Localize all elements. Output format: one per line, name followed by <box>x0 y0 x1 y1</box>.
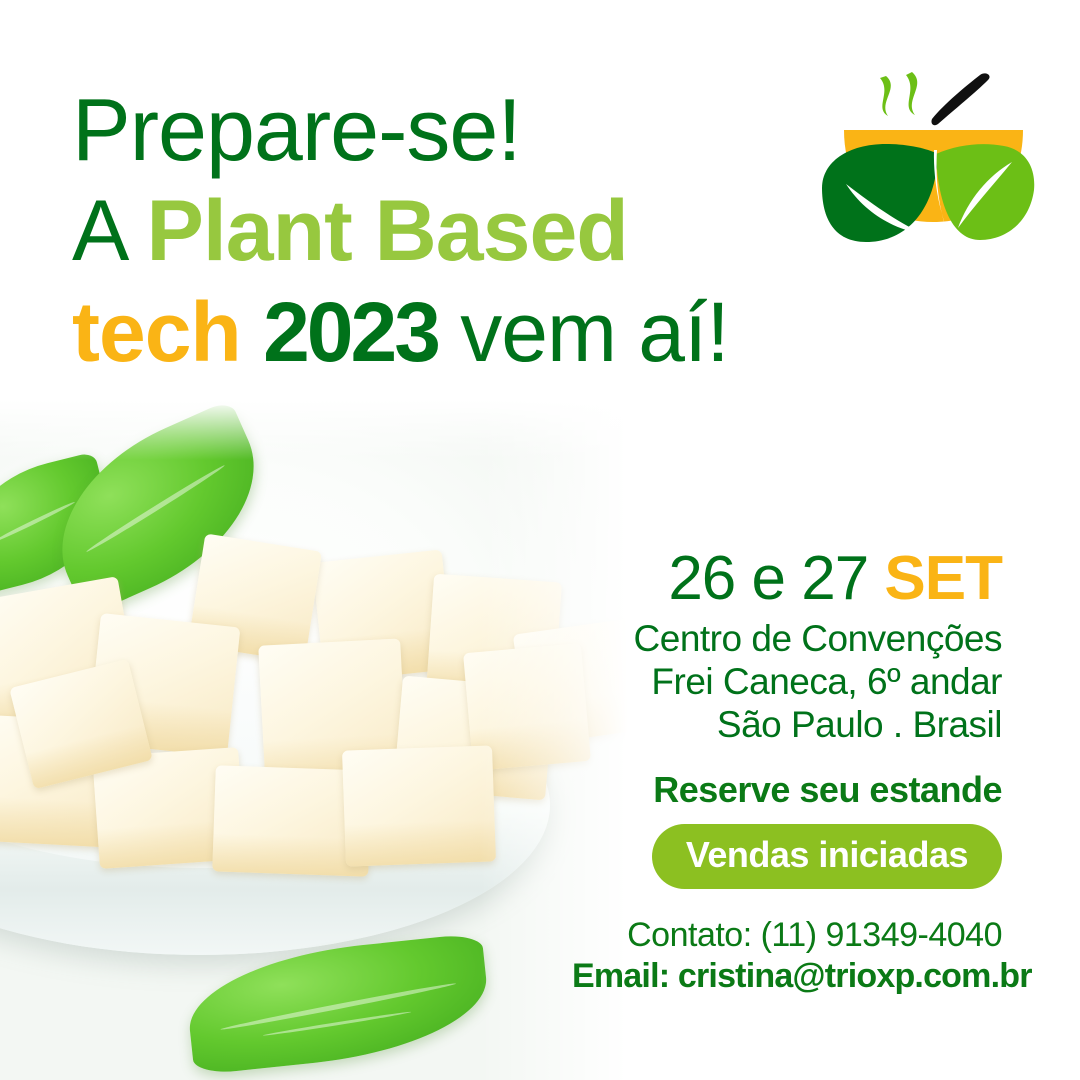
event-info-block: 26 e 27 SET Centro de Convenções Frei Ca… <box>572 548 1002 996</box>
headline-tech: tech <box>72 285 241 379</box>
headline-line-3: tech 2023 vem aí! <box>72 290 902 374</box>
spoon-icon <box>931 73 989 125</box>
contact-email[interactable]: Email: cristina@trioxp.com.br <box>572 956 1002 997</box>
food-photo <box>0 400 660 1080</box>
headline-year: 2023 <box>263 285 438 379</box>
contact-block: Contato: (11) 91349-4040 Email: cristina… <box>572 915 1002 997</box>
sales-status-wrapper: Vendas iniciadas <box>572 824 1002 889</box>
headline-tail: vem aí! <box>460 285 728 379</box>
event-dates-days: 26 e 27 <box>668 544 884 613</box>
headline-brand: Plant Based <box>147 183 628 279</box>
headline-block: Prepare-se! A Plant Based tech 2023 vem … <box>72 86 902 374</box>
brand-logo <box>808 58 1058 308</box>
steam-curl-right-icon <box>906 72 917 115</box>
cheese-cube <box>342 745 496 866</box>
contact-phone[interactable]: Contato: (11) 91349-4040 <box>572 915 1002 956</box>
photo-top-fade <box>0 400 660 460</box>
headline-article: A <box>72 183 124 279</box>
venue-line-2: Frei Caneca, 6º andar <box>572 661 1002 704</box>
bowl-leaf-logo-icon <box>808 58 1058 308</box>
event-dates-month: SET <box>884 544 1002 613</box>
headline-line-1: Prepare-se! <box>72 86 902 174</box>
steam-curl-left-icon <box>880 76 891 116</box>
sales-started-badge[interactable]: Vendas iniciadas <box>652 824 1002 889</box>
poster-root: Prepare-se! A Plant Based tech 2023 vem … <box>0 0 1080 1080</box>
venue-address: Centro de Convenções Frei Caneca, 6º and… <box>572 618 1002 747</box>
event-dates: 26 e 27 SET <box>572 548 1002 610</box>
venue-line-1: Centro de Convenções <box>572 618 1002 661</box>
headline-line-2: A Plant Based <box>72 188 902 274</box>
reserve-booth-label: Reserve seu estande <box>572 769 1002 811</box>
venue-line-3: São Paulo . Brasil <box>572 704 1002 747</box>
leaf-dark-icon <box>822 144 938 242</box>
